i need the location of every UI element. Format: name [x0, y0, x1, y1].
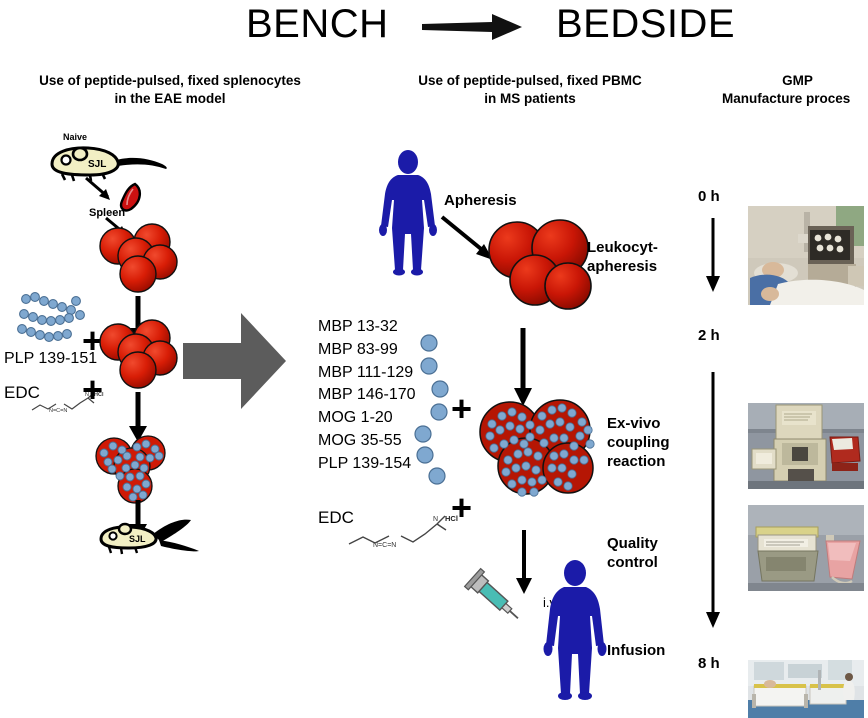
- ms-patient-figure-icon: [375, 150, 441, 275]
- middle-plus-sign-2: +: [451, 490, 472, 526]
- right-arrow-icon: [422, 12, 530, 42]
- treated-mouse-strain-text: SJL: [129, 534, 146, 544]
- infusion-step-label: Infusion: [607, 641, 665, 660]
- leukocytapheresis-label-line2: apheresis: [587, 257, 658, 276]
- svg-text:N=C=N: N=C=N: [49, 408, 67, 414]
- patient-apheresis-photo: [748, 206, 864, 305]
- mouse-to-spleen-arrow: [84, 176, 120, 206]
- left-panel-heading-line1: Use of peptide-pulsed, fixed splenocytes: [10, 72, 330, 90]
- apheresis-label: Apheresis: [444, 191, 517, 210]
- peptide-coupled-splenocytes-icon: [90, 432, 176, 506]
- svg-text:N=C=N: N=C=N: [373, 542, 396, 549]
- peptide-list-item: MBP 111-129: [318, 362, 416, 385]
- bag-sealer-and-blood-bag-photo: [748, 505, 864, 591]
- leukocytapheresis-label: Leukocyt- apheresis: [587, 238, 658, 276]
- leukocytapheresis-label-line1: Leukocyt-: [587, 238, 658, 257]
- peptide-list-item: MOG 35-55: [318, 430, 416, 453]
- middle-panel-heading-line2: in MS patients: [370, 90, 690, 108]
- lab-cell-processing-device-photo: [748, 403, 864, 489]
- naive-mouse-label: Naive: [63, 132, 87, 142]
- timeline-arrow-0-to-2h: [702, 218, 724, 296]
- quality-control-step-label: Quality control: [607, 534, 658, 572]
- infused-patient-figure-icon: [540, 560, 610, 700]
- right-panel-heading-line1: GMP: [740, 72, 855, 90]
- naive-mouse-strain-text: SJL: [88, 159, 106, 170]
- middle-panel-heading: Use of peptide-pulsed, fixed PBMC in MS …: [370, 72, 690, 108]
- pbmc-down-arrow: [512, 328, 534, 408]
- middle-plus-sign-1: +: [451, 391, 472, 427]
- splenocyte-cluster-plain: [96, 222, 182, 294]
- timepoint-2h-label: 2 h: [698, 327, 720, 344]
- right-panel-heading: GMP Manufacture proces: [740, 72, 868, 108]
- plp-peptide-label: PLP 139-151: [4, 350, 97, 368]
- right-panel-heading-line2: Manufacture proces: [722, 90, 868, 108]
- left-plus-sign-2: +: [82, 372, 103, 408]
- peptide-list-item: MBP 13-32: [318, 316, 416, 339]
- bench-to-bedside-big-arrow: [183, 313, 286, 410]
- timepoint-8h-label: 8 h: [698, 655, 720, 672]
- bench-to-bedside-arrow: [422, 12, 530, 42]
- timepoint-0h-label: 0 h: [698, 188, 720, 205]
- qc-line2: control: [607, 553, 658, 572]
- syringe-icon: [464, 568, 526, 630]
- hospital-ward-infusion-photo: [748, 660, 864, 718]
- peptide-list-item: MBP 83-99: [318, 339, 416, 362]
- qc-line1: Quality: [607, 534, 658, 553]
- treated-mouse-icon: SJL: [95, 518, 210, 558]
- middle-edc-structure-icon: N=C=N N HCl: [345, 508, 455, 550]
- title-bench: BENCH: [246, 2, 389, 47]
- left-panel-heading: Use of peptide-pulsed, fixed splenocytes…: [10, 72, 330, 108]
- exvivo-line3: reaction: [607, 452, 670, 471]
- peptide-list: MBP 13-32 MBP 83-99 MBP 111-129 MBP 146-…: [318, 316, 416, 476]
- exvivo-line2: coupling: [607, 433, 670, 452]
- pbmc-cluster-icon: [487, 218, 591, 318]
- peptide-list-item: MOG 1-20: [318, 407, 416, 430]
- timeline-arrow-2-to-8h: [702, 372, 724, 632]
- peptide-list-item: MBP 146-170: [318, 384, 416, 407]
- svg-text:N: N: [433, 516, 438, 523]
- peptide-list-item: PLP 139-154: [318, 453, 416, 476]
- peptide-coupled-pbmc-icon: [478, 398, 598, 510]
- middle-panel-heading-line1: Use of peptide-pulsed, fixed PBMC: [370, 72, 690, 90]
- exvivo-coupling-step-label: Ex-vivo coupling reaction: [607, 414, 670, 472]
- splenocyte-cluster-plain-2: [96, 318, 182, 390]
- exvivo-line1: Ex-vivo: [607, 414, 670, 433]
- left-panel-heading-line2: in the EAE model: [10, 90, 330, 108]
- title-bedside: BEDSIDE: [556, 2, 735, 47]
